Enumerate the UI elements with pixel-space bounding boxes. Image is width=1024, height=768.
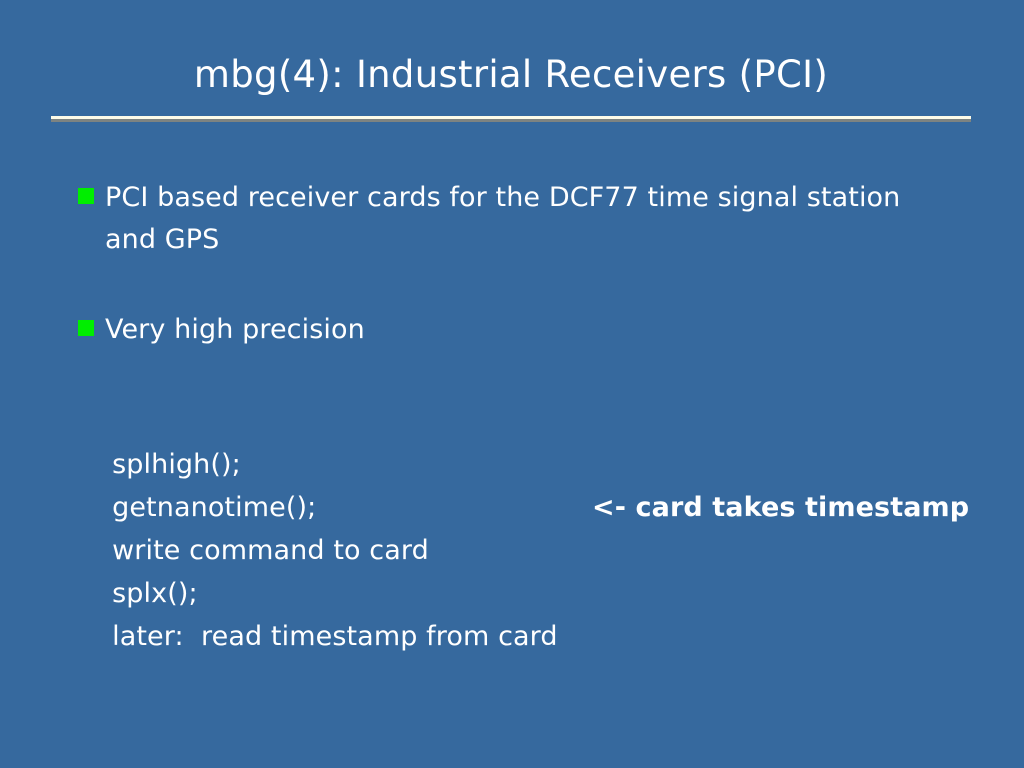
code-line-annotation: <- card takes timestamp bbox=[592, 486, 969, 529]
code-line: later: read timestamp from card bbox=[60, 572, 990, 615]
code-line-text: later: read timestamp from card bbox=[112, 621, 558, 652]
code-line: splhigh(); bbox=[60, 400, 990, 443]
list-item-label: PCI based receiver cards for the DCF77 t… bbox=[105, 177, 938, 261]
square-bullet-icon bbox=[78, 320, 94, 336]
presentation-slide: mbg(4): Industrial Receivers (PCI) PCI b… bbox=[0, 0, 1024, 768]
list-item-label: Very high precision bbox=[105, 309, 365, 351]
square-bullet-icon bbox=[78, 188, 94, 204]
code-line: splx(); bbox=[60, 529, 990, 572]
title-divider-shadow bbox=[51, 119, 971, 122]
code-line: write command to card <- card takes time… bbox=[60, 486, 990, 529]
page-title: mbg(4): Industrial Receivers (PCI) bbox=[51, 52, 971, 98]
code-sequence-block: splhigh(); getnanotime(); write command … bbox=[60, 400, 990, 615]
list-item: PCI based receiver cards for the DCF77 t… bbox=[78, 177, 938, 261]
code-line: getnanotime(); bbox=[60, 443, 990, 486]
list-item: Very high precision bbox=[78, 309, 678, 351]
